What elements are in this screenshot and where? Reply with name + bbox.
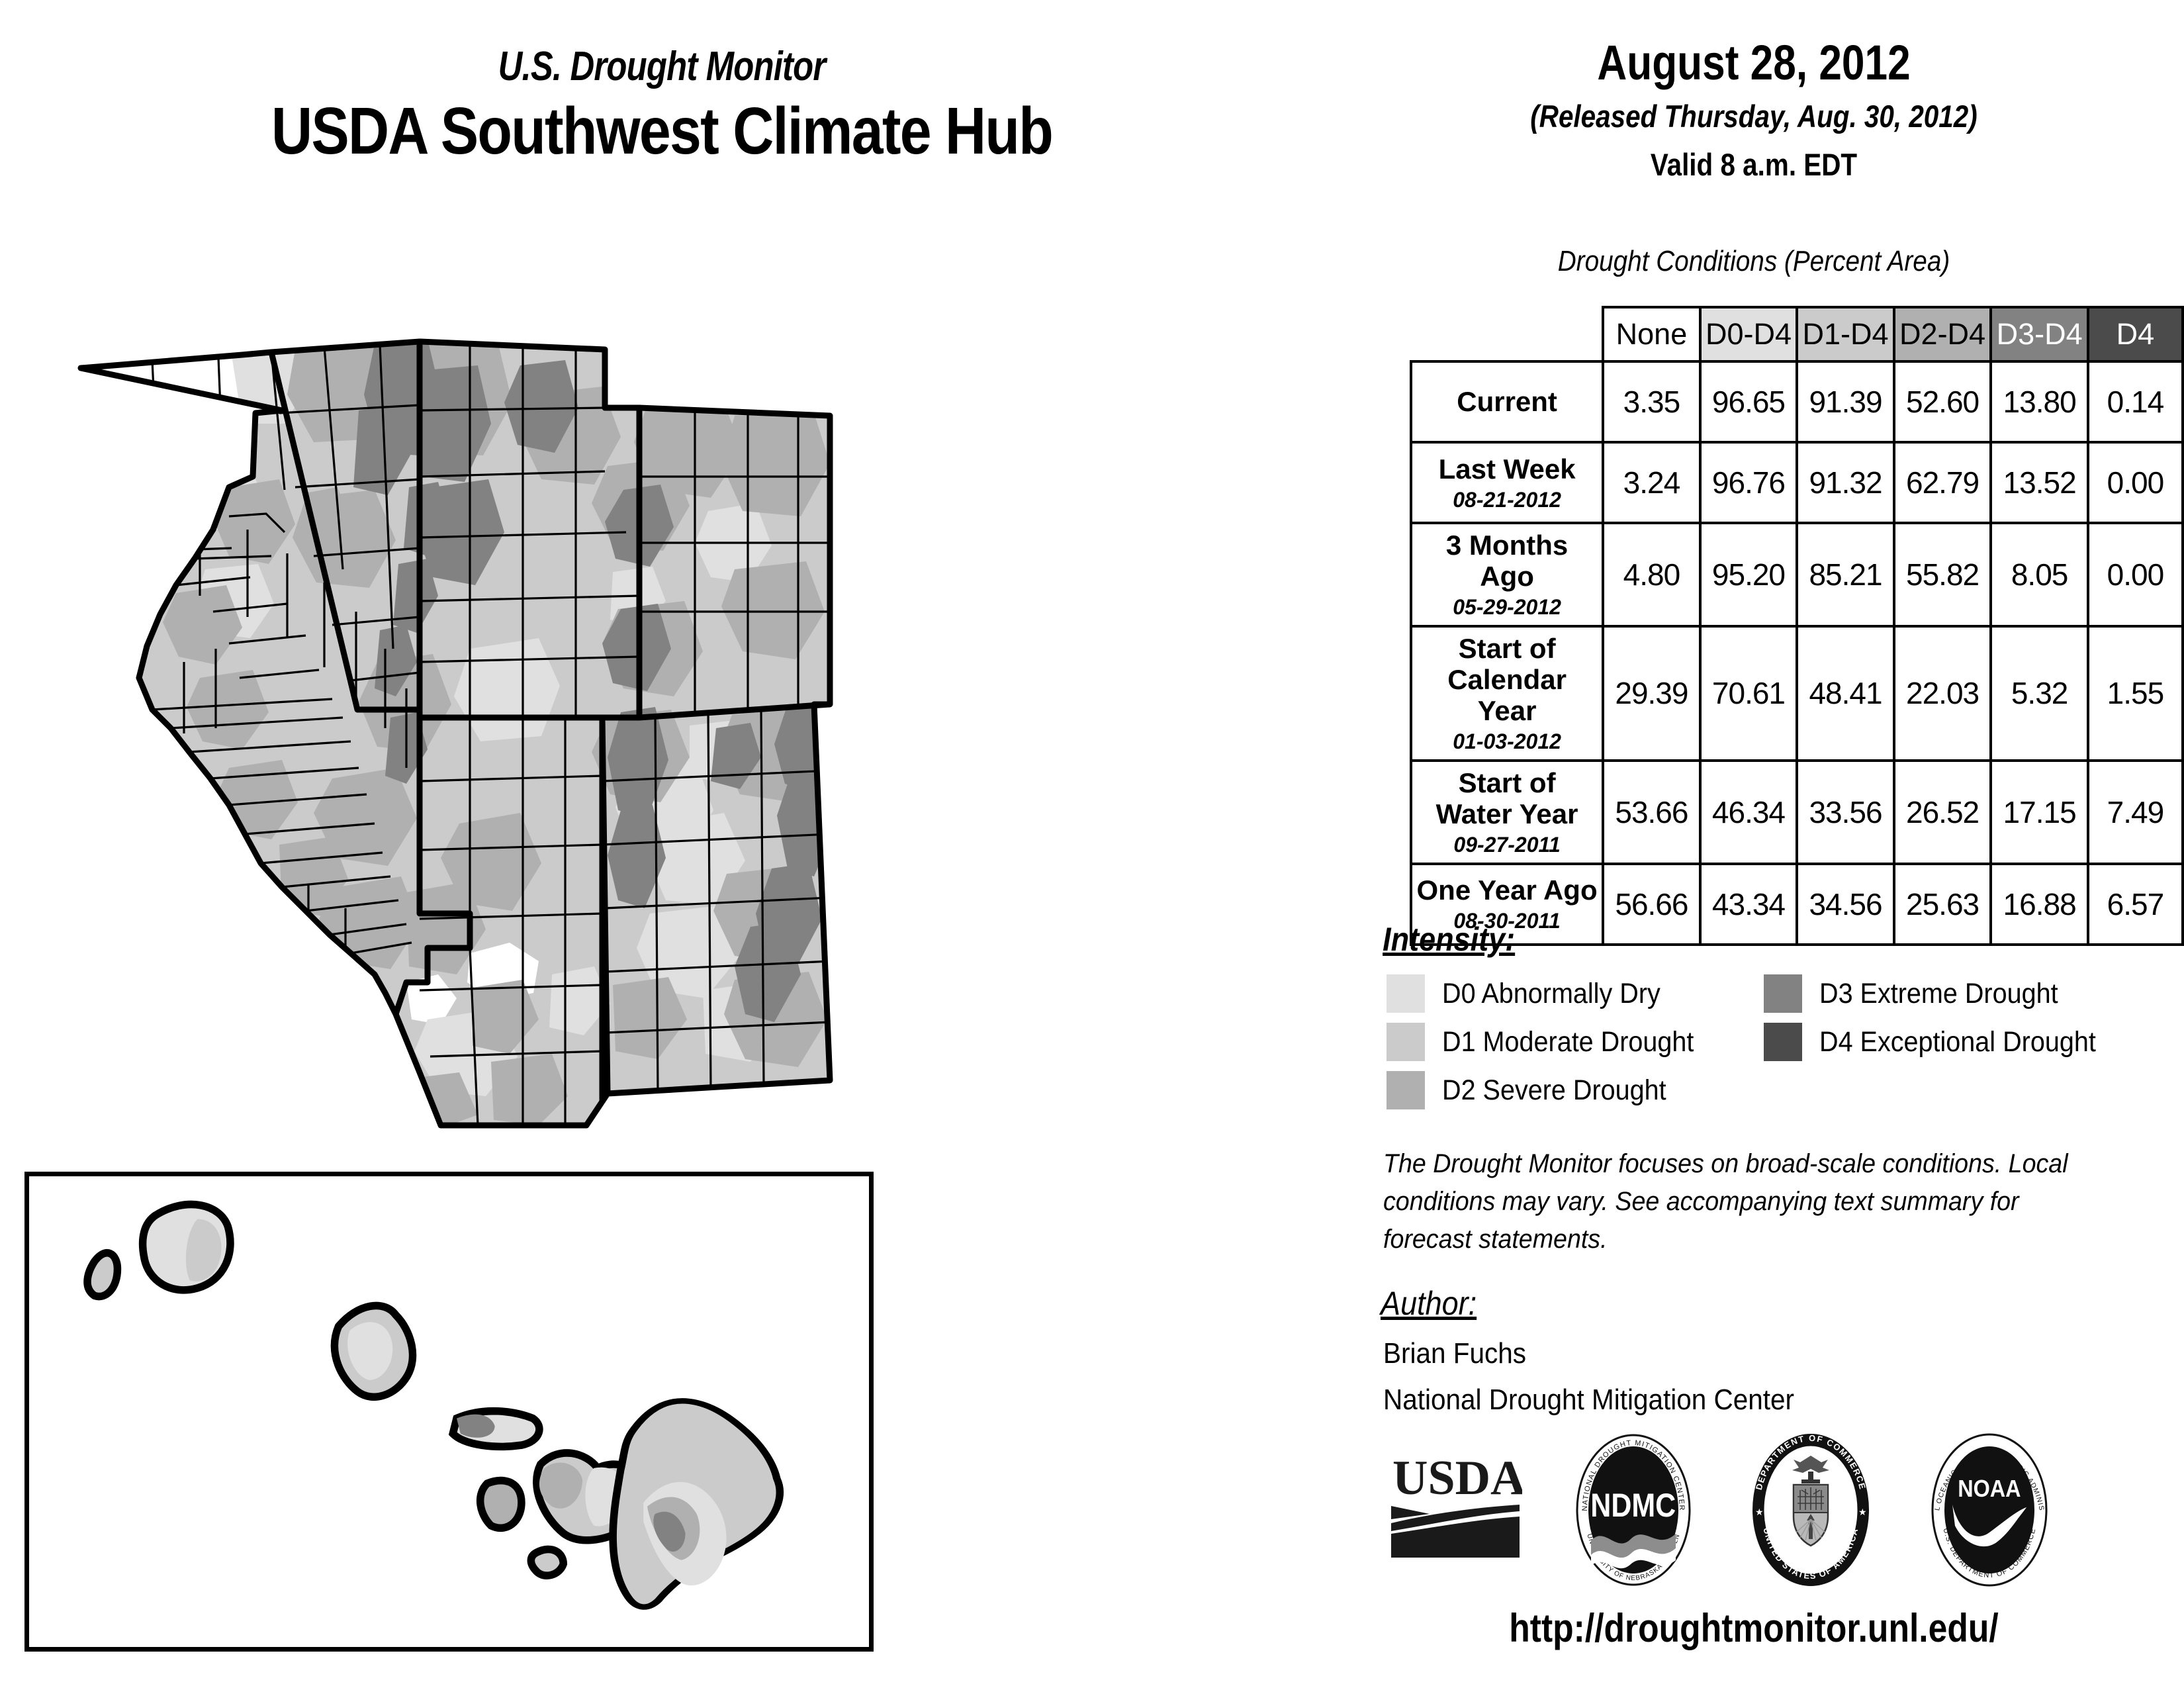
table-caption: Drought Conditions (Percent Area)	[1375, 245, 2132, 278]
legend-item-d3: D3 Extreme Drought	[1764, 974, 2079, 1013]
table-cell: 55.82	[1894, 523, 1991, 626]
table-row: 3 Months Ago05-29-20124.8095.2085.2155.8…	[1411, 523, 2183, 626]
table-row-date: 09-27-2011	[1416, 833, 1598, 857]
author-organization: National Drought Mitigation Center	[1383, 1383, 1794, 1417]
table-cell: 96.65	[1700, 361, 1797, 442]
table-row: Last Week08-21-20123.2496.7691.3262.7913…	[1411, 442, 2183, 523]
table-cell: 26.52	[1894, 761, 1991, 864]
legend-swatch-d2	[1387, 1071, 1425, 1109]
table-cell: 4.80	[1603, 523, 1700, 626]
map-date: August 28, 2012	[1392, 38, 2115, 87]
author-heading: Author:	[1381, 1284, 1477, 1323]
row-label-line: Current	[1416, 386, 1598, 417]
disclaimer-text: The Drought Monitor focuses on broad-sca…	[1383, 1145, 2093, 1258]
website-url: http://droughtmonitor.unl.edu/	[1384, 1605, 2124, 1651]
valid-time: Valid 8 a.m. EDT	[1384, 146, 2124, 183]
legend-item-d1: D1 Moderate Drought	[1387, 1023, 1716, 1061]
program-subtitle: U.S. Drought Monitor	[119, 46, 1205, 87]
table-cell: 16.88	[1991, 864, 2088, 945]
table-cell: 13.80	[1991, 361, 2088, 442]
table-row: Start ofCalendar Year01-03-201229.3970.6…	[1411, 626, 2183, 761]
table-col-header-d2-d4: D2-D4	[1894, 307, 1991, 361]
intensity-heading: Intensity:	[1383, 920, 1515, 959]
table-cell: 13.52	[1991, 442, 2088, 523]
table-row-label: Last Week08-21-2012	[1411, 442, 1603, 523]
table-corner-cell	[1411, 307, 1603, 361]
table-cell: 0.00	[2088, 523, 2183, 626]
table-col-header-d0-d4: D0-D4	[1700, 307, 1797, 361]
table-cell: 70.61	[1700, 626, 1797, 761]
table-cell: 56.66	[1603, 864, 1700, 945]
row-label-line: Calendar Year	[1416, 664, 1598, 726]
legend-label: D4 Exceptional Drought	[1819, 1026, 2096, 1058]
table-col-header-d3-d4: D3-D4	[1991, 307, 2088, 361]
row-label-line: Last Week	[1416, 453, 1598, 485]
table-cell: 6.57	[2088, 864, 2183, 945]
table-cell: 91.39	[1797, 361, 1894, 442]
table-cell: 85.21	[1797, 523, 1894, 626]
table-row-date: 05-29-2012	[1416, 596, 1598, 620]
svg-text:★: ★	[1858, 1507, 1867, 1517]
table-cell: 1.55	[2088, 626, 2183, 761]
table-cell: 43.34	[1700, 864, 1797, 945]
svg-text:★: ★	[1755, 1507, 1764, 1517]
legend-item-d4: D4 Exceptional Drought	[1764, 1023, 2120, 1061]
release-date: (Released Thursday, Aug. 30, 2012)	[1384, 98, 2124, 134]
legend-item-d2: D2 Severe Drought	[1387, 1071, 1686, 1109]
table-cell: 48.41	[1797, 626, 1894, 761]
table-cell: 22.03	[1894, 626, 1991, 761]
svg-text:USDA: USDA	[1392, 1451, 1522, 1505]
svg-text:NOAA: NOAA	[1958, 1476, 2021, 1502]
row-label-line: 3 Months Ago	[1416, 530, 1598, 592]
table-body: Current3.3596.6591.3952.6013.800.14Last …	[1411, 361, 2183, 945]
legend-label: D3 Extreme Drought	[1819, 978, 2058, 1010]
table-row-date: 08-21-2012	[1416, 489, 1598, 512]
noaa-logo: NATIONAL OCEANIC AND ATMOSPHERIC ADMINIS…	[1923, 1433, 2056, 1590]
table-row: Start ofWater Year09-27-201153.6646.3433…	[1411, 761, 2183, 864]
date-block: August 28, 2012 (Released Thursday, Aug.…	[1324, 38, 2184, 183]
table-cell: 3.24	[1603, 442, 1700, 523]
table-col-header-d1-d4: D1-D4	[1797, 307, 1894, 361]
drought-conditions-table: NoneD0-D4D1-D4D2-D4D3-D4D4 Current3.3596…	[1410, 306, 2184, 946]
title-block: U.S. Drought Monitor USDA Southwest Clim…	[0, 46, 1324, 166]
legend-swatch-d4	[1764, 1023, 1802, 1061]
table-cell: 62.79	[1894, 442, 1991, 523]
row-label-line: Start of	[1416, 767, 1598, 798]
table-col-header-none: None	[1603, 307, 1700, 361]
svg-text:NDMC: NDMC	[1590, 1487, 1676, 1524]
page-title: USDA Southwest Climate Hub	[93, 97, 1231, 166]
table-cell: 34.56	[1797, 864, 1894, 945]
hawaii-drought-map	[30, 1177, 868, 1646]
southwest-drought-map	[73, 331, 1271, 1185]
row-label-line: One Year Ago	[1416, 874, 1598, 906]
legend-item-d0: D0 Abnormally Dry	[1387, 974, 1679, 1013]
table-cell: 29.39	[1603, 626, 1700, 761]
ndmc-logo: NATIONAL DROUGHT MITIGATION CENTER UNIVE…	[1567, 1433, 1700, 1590]
table-cell: 5.32	[1991, 626, 2088, 761]
legend-label: D2 Severe Drought	[1442, 1074, 1666, 1107]
table-row-date: 01-03-2012	[1416, 730, 1598, 754]
table-header-row: NoneD0-D4D1-D4D2-D4D3-D4D4	[1411, 307, 2183, 361]
table-cell: 46.34	[1700, 761, 1797, 864]
table-col-header-d4: D4	[2088, 307, 2183, 361]
doc-seal-logo: DEPARTMENT OF COMMERCE UNITED STATES OF …	[1745, 1433, 1877, 1590]
table-row-label: Current	[1411, 361, 1603, 442]
table-cell: 0.14	[2088, 361, 2183, 442]
table-row: One Year Ago08-30-201156.6643.3434.5625.…	[1411, 864, 2183, 945]
table-cell: 17.15	[1991, 761, 2088, 864]
table-cell: 3.35	[1603, 361, 1700, 442]
table-row-label: Start ofCalendar Year01-03-2012	[1411, 626, 1603, 761]
table-cell: 7.49	[2088, 761, 2183, 864]
table-cell: 33.56	[1797, 761, 1894, 864]
table-cell: 53.66	[1603, 761, 1700, 864]
table-cell: 91.32	[1797, 442, 1894, 523]
table-cell: 52.60	[1894, 361, 1991, 442]
table-row-label: 3 Months Ago05-29-2012	[1411, 523, 1603, 626]
legend-swatch-d0	[1387, 974, 1425, 1013]
agency-logos: USDA NATIONAL DROUGHT MITIGATION CENTER …	[1390, 1433, 2131, 1585]
legend-swatch-d1	[1387, 1023, 1425, 1061]
author-name: Brian Fuchs	[1383, 1337, 1526, 1370]
table-cell: 96.76	[1700, 442, 1797, 523]
row-label-line: Water Year	[1416, 798, 1598, 829]
table-cell: 0.00	[2088, 442, 2183, 523]
legend-label: D1 Moderate Drought	[1442, 1026, 1694, 1058]
table-row: Current3.3596.6591.3952.6013.800.14	[1411, 361, 2183, 442]
legend-swatch-d3	[1764, 974, 1802, 1013]
table-cell: 25.63	[1894, 864, 1991, 945]
row-label-line: Start of	[1416, 633, 1598, 664]
usda-logo: USDA	[1390, 1450, 1522, 1566]
table-row-label: Start ofWater Year09-27-2011	[1411, 761, 1603, 864]
table-cell: 95.20	[1700, 523, 1797, 626]
table-cell: 8.05	[1991, 523, 2088, 626]
legend-label: D0 Abnormally Dry	[1442, 978, 1661, 1010]
